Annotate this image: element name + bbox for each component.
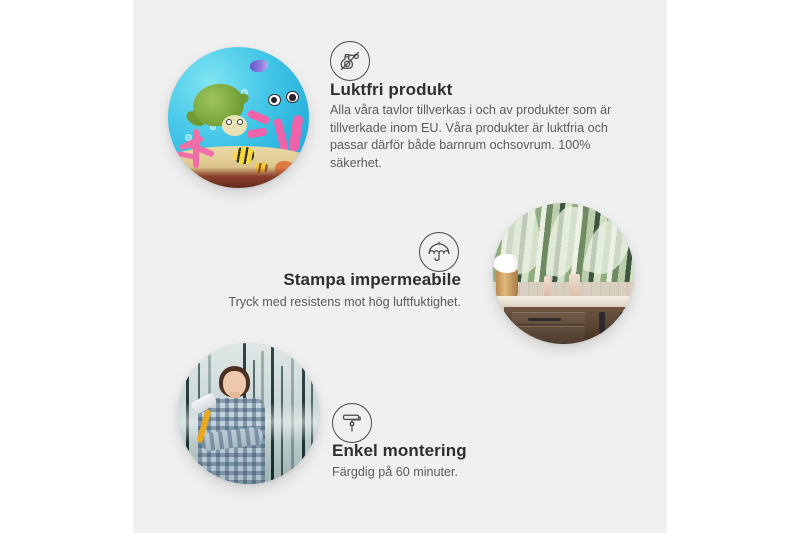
- feature-body-water-resistant: Tryck med resistens mot hög luftfuktighe…: [0, 294, 461, 312]
- feature-body-odour-free: Alla våra tavlor tillverkas i och av pro…: [330, 102, 622, 172]
- pink-coral: [176, 129, 218, 168]
- seabed-rocks: [168, 167, 309, 188]
- drawer-handle: [528, 318, 562, 320]
- candle: [544, 276, 551, 296]
- paint-roller-icon: [332, 403, 372, 443]
- feature-title-easy-mounting: Enkel montering: [332, 441, 467, 461]
- no-fragrance-spray-bottle-icon: [330, 41, 370, 81]
- product-image-underwater-scene: [168, 47, 309, 188]
- product-image-bathroom-wallpaper: [493, 203, 634, 344]
- umbrella-icon: [419, 232, 459, 272]
- feature-title-water-resistant: Stampa impermeabile: [0, 270, 461, 290]
- yellow-striped-fish: [234, 147, 254, 164]
- promo-feature-graphic: Luktfri produkt Alla våra tavlor tillver…: [0, 0, 800, 533]
- feature-title-odour-free: Luktfri produkt: [330, 80, 452, 100]
- octopus-pupil: [289, 94, 295, 100]
- product-image-installer-woman: [178, 343, 319, 484]
- cabinet-handle: [599, 312, 605, 334]
- turtle-head: [222, 115, 247, 136]
- wooden-vanity: [504, 307, 634, 344]
- feature-body-easy-mounting: Färgdig på 60 minuter.: [332, 464, 592, 482]
- octopus-body: [258, 81, 306, 123]
- cabinet-handle: [620, 312, 626, 334]
